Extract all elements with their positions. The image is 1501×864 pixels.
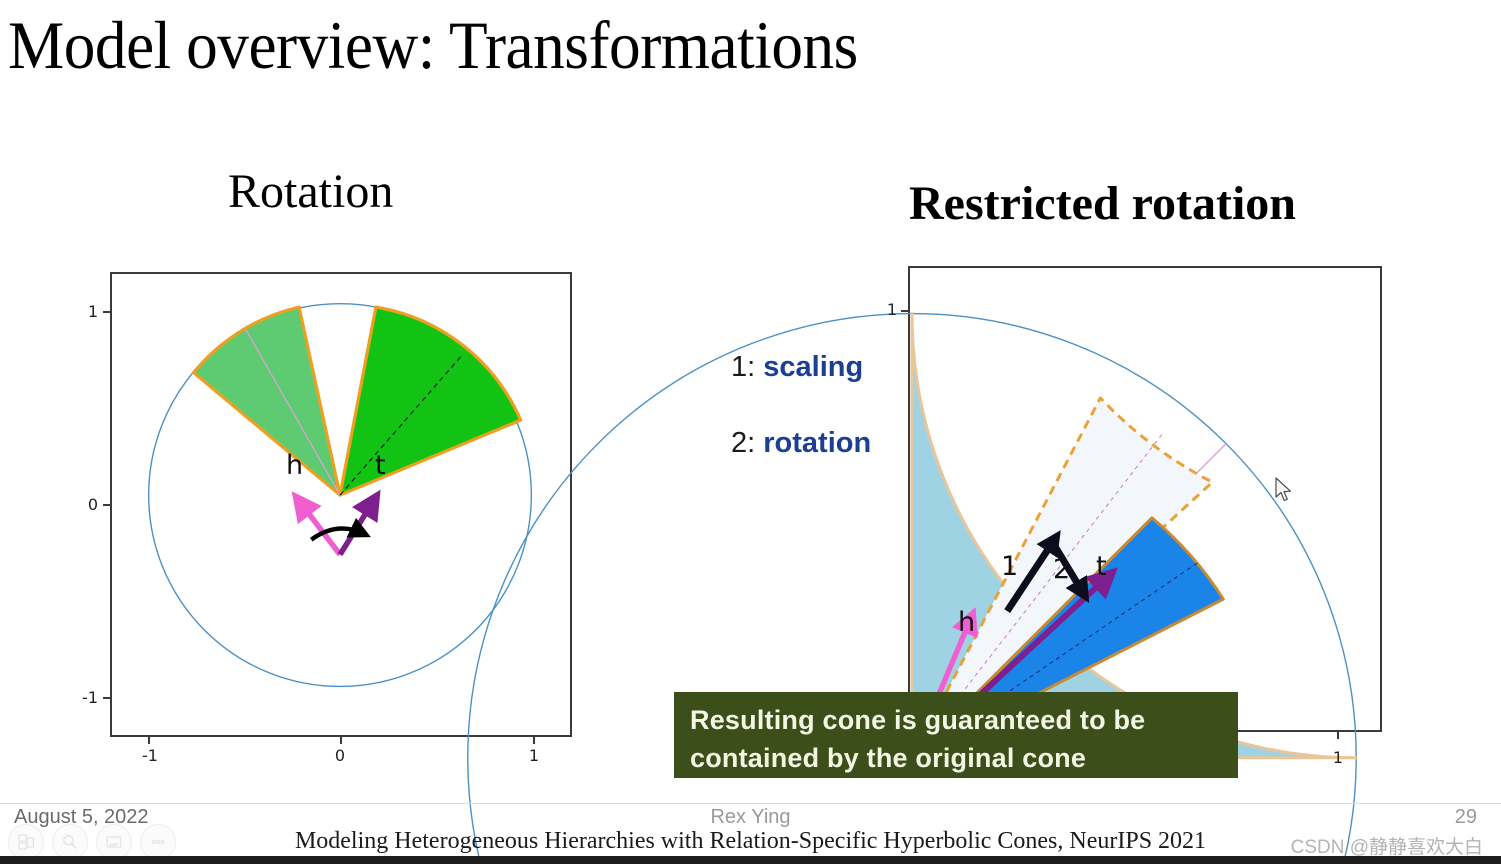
axis-tick-left-y-neg1: -1: [66, 688, 98, 707]
source-cone-h: [194, 307, 340, 495]
callout-line-1: Resulting cone is guaranteed to be: [690, 701, 1222, 739]
label-t-left: t: [375, 450, 386, 481]
rotated-cone-t: [340, 307, 521, 495]
legend-step-1-label: scaling: [763, 351, 863, 383]
annotation-icon[interactable]: [96, 824, 132, 860]
slide-grid-icon[interactable]: [8, 824, 44, 860]
tickmark-right-x1: [1337, 732, 1339, 739]
rotation-plot-canvas: [112, 274, 570, 735]
callout-banner: Resulting cone is guaranteed to be conta…: [674, 692, 1238, 778]
tickmark-left-y0: [103, 504, 110, 506]
page-title: Model overview: Transformations: [8, 2, 1124, 88]
tickmark-left-ym1: [103, 697, 110, 699]
tickmark-left-xm1: [148, 737, 150, 744]
axis-tick-left-y-1: 1: [74, 302, 98, 321]
mouse-cursor: [1275, 477, 1293, 503]
legend-step-1-number: 1:: [731, 351, 755, 383]
footer-bottom-bar: [0, 856, 1501, 864]
more-options-icon[interactable]: [140, 824, 176, 860]
axis-tick-right-y-1: 1: [875, 300, 897, 319]
magnifier-icon[interactable]: [52, 824, 88, 860]
axis-tick-left-x-neg1: -1: [132, 746, 168, 765]
footer-page-number: 29: [1455, 806, 1477, 829]
label-step1-right: 1: [1001, 551, 1018, 582]
presenter-toolbar: [8, 824, 176, 860]
label-t-right: t: [1096, 551, 1107, 582]
slide-grid-glyph: [17, 833, 35, 851]
tickmark-left-x0: [340, 737, 342, 744]
footer-reference: Modeling Heterogeneous Hierarchies with …: [0, 828, 1501, 855]
axis-tick-left-x-1: 1: [518, 746, 550, 765]
legend-step-rotation: 2: rotation: [731, 427, 871, 460]
restricted-rotation-panel-heading: Restricted rotation: [909, 175, 1296, 233]
label-step2-right: 2: [1053, 554, 1070, 585]
legend-step-2-number: 2:: [731, 427, 755, 459]
more-options-glyph: [149, 833, 167, 851]
restricted-rotation-plot: [908, 266, 1382, 732]
legend-step-scaling: 1: scaling: [731, 351, 863, 384]
tickmark-right-y1: [901, 310, 908, 312]
footer-author: Rex Ying: [0, 806, 1501, 829]
annotation-glyph: [105, 833, 123, 851]
tickmark-left-y1: [103, 311, 110, 313]
restricted-rotation-plot-canvas: [910, 268, 1380, 730]
footer-watermark: CSDN @静静喜欢大白: [1291, 832, 1483, 859]
legend-step-2-label: rotation: [763, 427, 871, 459]
rotation-plot: [110, 272, 572, 737]
label-h-left: h: [286, 450, 303, 481]
label-h-right: h: [958, 607, 975, 638]
axis-tick-left-y-0: 0: [74, 495, 98, 514]
magnifier-glyph: [61, 833, 79, 851]
footer-divider: [0, 803, 1501, 804]
axis-tick-left-x-0: 0: [324, 746, 356, 765]
axis-tick-right-x-1: 1: [1322, 748, 1354, 767]
callout-line-2: contained by the original cone: [690, 739, 1222, 777]
rotation-panel-heading: Rotation: [228, 163, 393, 221]
tickmark-left-x1: [533, 737, 535, 744]
